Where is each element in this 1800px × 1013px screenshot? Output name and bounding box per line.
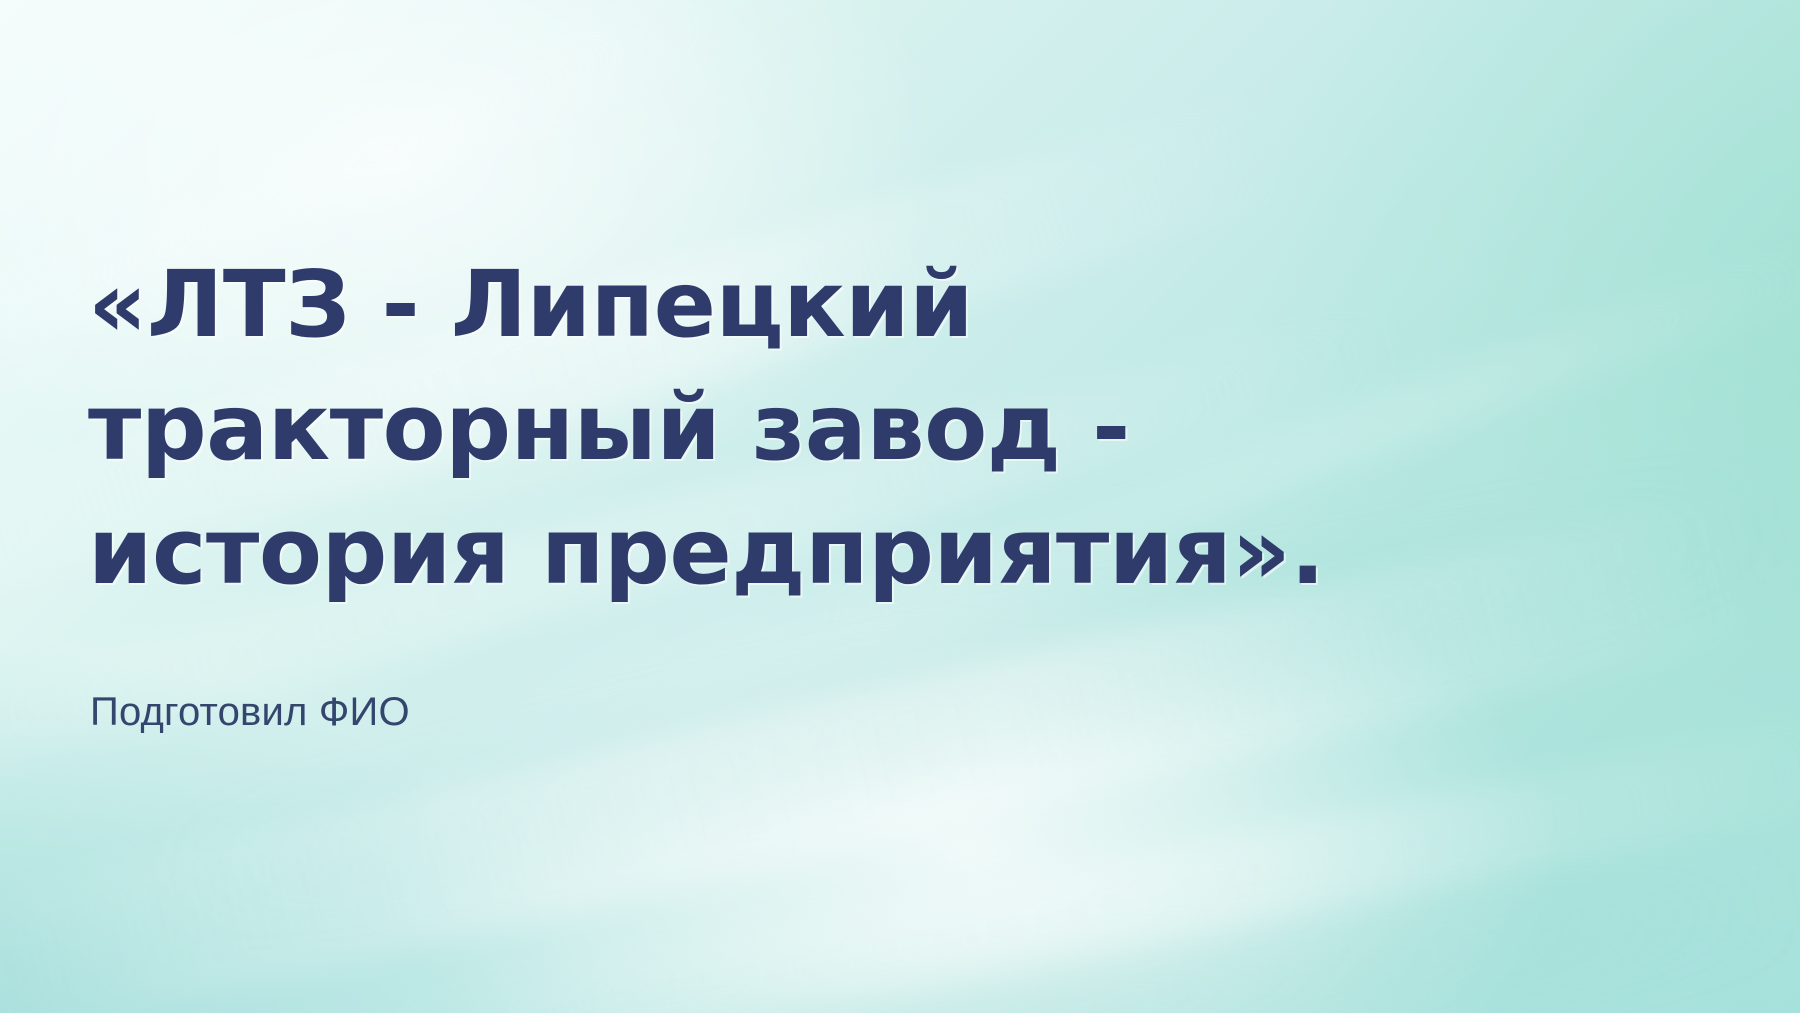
slide-subtitle: Подготовил ФИО [90, 686, 410, 738]
title-slide: «ЛТЗ - Липецкий тракторный завод - истор… [0, 0, 1800, 1013]
slide-content: «ЛТЗ - Липецкий тракторный завод - истор… [88, 0, 1708, 1013]
slide-title: «ЛТЗ - Липецкий тракторный завод - истор… [88, 243, 1688, 613]
